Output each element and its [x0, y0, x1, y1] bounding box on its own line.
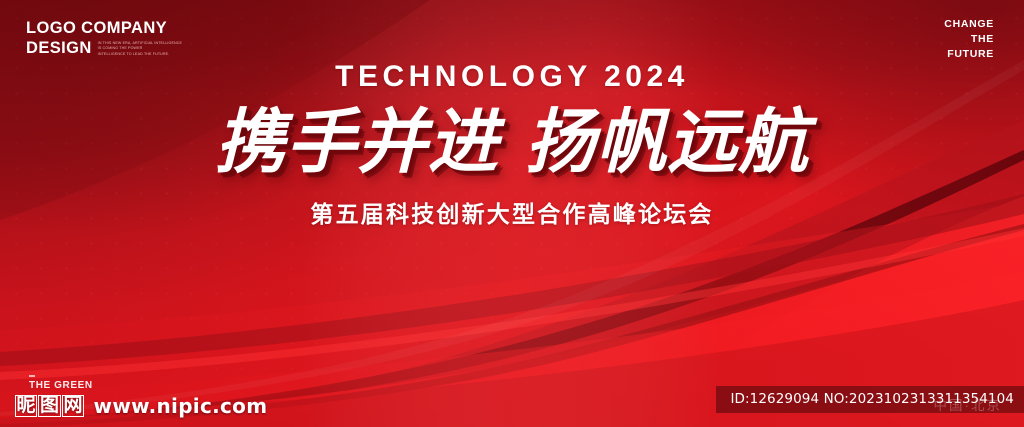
dash-icon	[29, 375, 35, 377]
main-title-part-1: 携手并进	[215, 101, 499, 183]
watermark-url: www.nipic.com	[94, 394, 268, 418]
corner-slogan-line-1: CHANGE	[944, 17, 994, 32]
watermark-logo-char-3: 网	[62, 395, 85, 417]
corner-slogan-line-3: FUTURE	[944, 47, 994, 62]
watermark-logo-char-2: 图	[38, 395, 61, 417]
logo-company-line2: DESIGN	[26, 38, 92, 58]
logo-tagline: IN THIS NEW ERA, ARTIFICIAL INTELLIGENCE…	[98, 41, 178, 57]
headline-group: TECHNOLOGY 2024 携手并进扬帆远航 第五届科技创新大型合作高峰论坛…	[0, 62, 1024, 229]
green-label-block: THE GREEN	[29, 375, 93, 391]
logo-company-line1: LOGO COMPANY	[26, 18, 178, 38]
id-text: ID:12629094 NO:2023102313311354104	[730, 391, 1014, 407]
green-label-text: THE GREEN	[29, 380, 93, 391]
watermark-logo-char-1: 昵	[15, 395, 38, 417]
logo-block: LOGO COMPANY DESIGN IN THIS NEW ERA, ART…	[26, 18, 178, 58]
eyebrow-title: TECHNOLOGY 2024	[0, 62, 1024, 92]
banner-poster: LOGO COMPANY DESIGN IN THIS NEW ERA, ART…	[0, 0, 1024, 427]
watermark-logo: 昵 图 网	[14, 395, 85, 417]
corner-slogan-line-2: THE	[944, 32, 994, 47]
logo-tagline-line-3: INTELLIGENCE TO LEAD THE FUTURE.	[98, 52, 178, 57]
main-title: 携手并进扬帆远航	[0, 106, 1024, 179]
corner-slogan: CHANGE THE FUTURE	[944, 17, 994, 63]
watermark: 昵 图 网 www.nipic.com	[14, 394, 267, 418]
id-bar: ID:12629094 NO:2023102313311354104 中国·北京	[716, 386, 1024, 413]
main-title-part-2: 扬帆远航	[525, 101, 809, 183]
subtitle: 第五届科技创新大型合作高峰论坛会	[0, 195, 1024, 229]
